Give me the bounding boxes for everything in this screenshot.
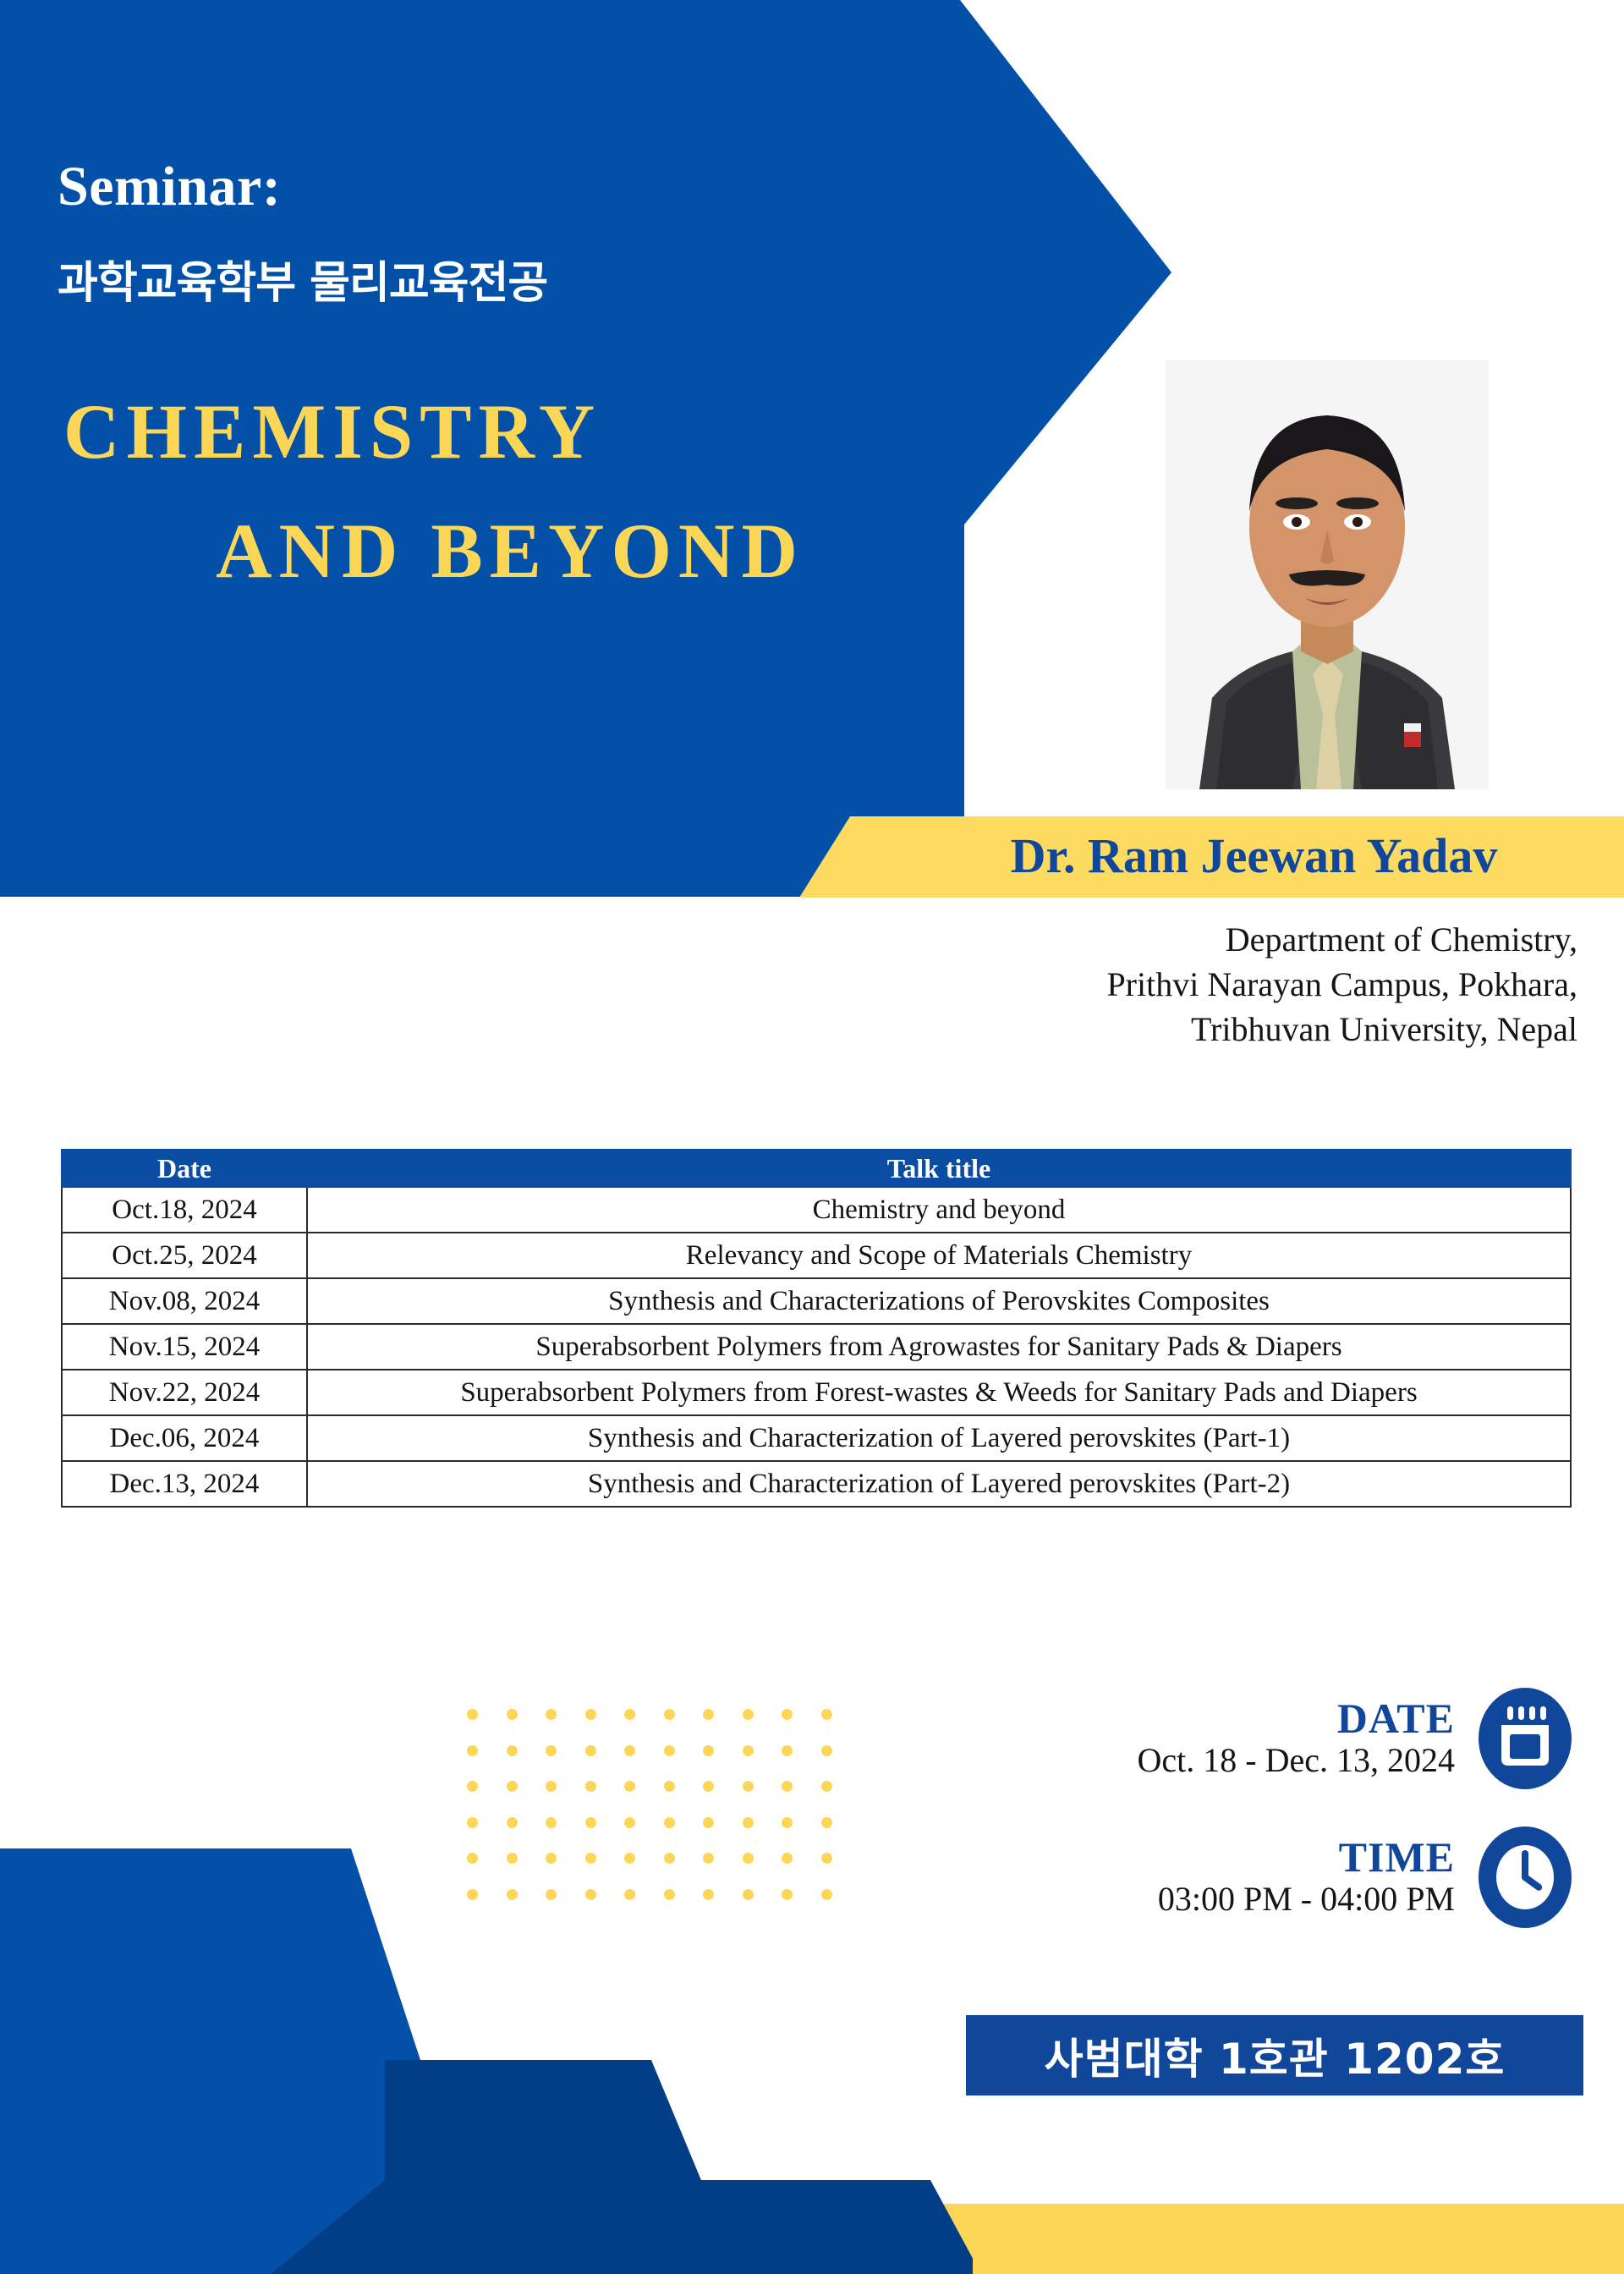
table-row: Dec.13, 2024Synthesis and Characterizati…: [62, 1461, 1571, 1507]
decorative-dot: [782, 1709, 793, 1720]
decorative-dot: [821, 1853, 832, 1864]
decorative-dot: [821, 1889, 832, 1900]
dot-row: [467, 1817, 832, 1828]
decorative-dot: [664, 1709, 675, 1720]
decorative-dot: [624, 1889, 635, 1900]
speaker-affiliation: Department of Chemistry, Prithvi Narayan…: [749, 918, 1577, 1052]
decorative-dot: [507, 1889, 518, 1900]
decorative-dot: [703, 1817, 714, 1828]
decorative-dot: [507, 1781, 518, 1792]
decorative-dot: [664, 1853, 675, 1864]
decorative-dot: [821, 1817, 832, 1828]
decorative-dot: [821, 1709, 832, 1720]
decorative-dot: [467, 1817, 478, 1828]
table-row: Nov.08, 2024Synthesis and Characterizati…: [62, 1278, 1571, 1324]
dot-grid-decoration: [467, 1709, 832, 1925]
decorative-dot: [703, 1745, 714, 1756]
schedule-table: Date Talk title Oct.18, 2024Chemistry an…: [61, 1149, 1572, 1508]
decorative-dot: [546, 1745, 557, 1756]
decorative-dot: [585, 1853, 596, 1864]
bottom-navy-shape-lower: [271, 2180, 973, 2274]
dot-row: [467, 1853, 832, 1864]
clock-icon: [1479, 1826, 1572, 1928]
decorative-dot: [507, 1817, 518, 1828]
decorative-dot: [782, 1853, 793, 1864]
dot-row: [467, 1745, 832, 1756]
decorative-dot: [664, 1745, 675, 1756]
decorative-dot: [821, 1781, 832, 1792]
decorative-dot: [585, 1889, 596, 1900]
decorative-dot: [624, 1745, 635, 1756]
decorative-dot: [546, 1709, 557, 1720]
cell-talk-title: Synthesis and Characterization of Layere…: [307, 1461, 1571, 1507]
affiliation-line-1: Department of Chemistry,: [749, 918, 1577, 963]
cell-date: Dec.06, 2024: [62, 1415, 307, 1461]
decorative-dot: [743, 1709, 754, 1720]
decorative-dot: [507, 1745, 518, 1756]
cell-date: Oct.18, 2024: [62, 1187, 307, 1233]
cell-talk-title: Synthesis and Characterization of Layere…: [307, 1415, 1571, 1461]
date-label: DATE: [1138, 1696, 1455, 1741]
date-texts: DATE Oct. 18 - Dec. 13, 2024: [1138, 1696, 1455, 1782]
dot-row: [467, 1781, 832, 1792]
cell-talk-title: Relevancy and Scope of Materials Chemist…: [307, 1233, 1571, 1278]
column-header-talk-title: Talk title: [307, 1150, 1571, 1187]
seminar-label: Seminar:: [58, 155, 281, 219]
time-row: TIME 03:00 PM - 04:00 PM: [895, 1826, 1572, 1928]
dot-row: [467, 1709, 832, 1720]
decorative-dot: [743, 1781, 754, 1792]
decorative-dot: [743, 1853, 754, 1864]
decorative-dot: [703, 1781, 714, 1792]
decorative-dot: [624, 1709, 635, 1720]
decorative-dot: [546, 1853, 557, 1864]
date-value: Oct. 18 - Dec. 13, 2024: [1138, 1740, 1455, 1781]
decorative-dot: [624, 1853, 635, 1864]
decorative-dot: [467, 1853, 478, 1864]
table-header-row: Date Talk title: [62, 1150, 1571, 1187]
poster-title-line-1: CHEMISTRY: [63, 387, 601, 476]
decorative-dot: [821, 1745, 832, 1756]
table-row: Oct.25, 2024Relevancy and Scope of Mater…: [62, 1233, 1571, 1278]
decorative-dot: [703, 1709, 714, 1720]
column-header-date: Date: [62, 1150, 307, 1187]
cell-date: Dec.13, 2024: [62, 1461, 307, 1507]
decorative-dot: [664, 1889, 675, 1900]
cell-talk-title: Chemistry and beyond: [307, 1187, 1571, 1233]
decorative-dot: [743, 1889, 754, 1900]
venue-text: 사범대학 1호관 1202호: [1045, 2025, 1506, 2086]
cell-date: Nov.22, 2024: [62, 1370, 307, 1415]
decorative-dot: [585, 1745, 596, 1756]
table-row: Nov.22, 2024Superabsorbent Polymers from…: [62, 1370, 1571, 1415]
cell-talk-title: Synthesis and Characterizations of Perov…: [307, 1278, 1571, 1324]
speaker-name: Dr. Ram Jeewan Yadav: [897, 827, 1611, 884]
decorative-dot: [664, 1781, 675, 1792]
cell-date: Nov.15, 2024: [62, 1324, 307, 1370]
affiliation-line-2: Prithvi Narayan Campus, Pokhara,: [749, 963, 1577, 1008]
cell-talk-title: Superabsorbent Polymers from Forest-wast…: [307, 1370, 1571, 1415]
date-row: DATE Oct. 18 - Dec. 13, 2024: [895, 1688, 1572, 1789]
decorative-dot: [467, 1781, 478, 1792]
dot-row: [467, 1889, 832, 1900]
calendar-icon: [1479, 1688, 1572, 1789]
decorative-dot: [546, 1781, 557, 1792]
decorative-dot: [624, 1781, 635, 1792]
decorative-dot: [507, 1709, 518, 1720]
table-row: Dec.06, 2024Synthesis and Characterizati…: [62, 1415, 1571, 1461]
venue-banner: 사범대학 1호관 1202호: [966, 2015, 1583, 2095]
time-label: TIME: [1158, 1835, 1455, 1880]
time-value: 03:00 PM - 04:00 PM: [1158, 1879, 1455, 1920]
poster-title-line-2: AND BEYOND: [216, 506, 804, 596]
table-row: Nov.15, 2024Superabsorbent Polymers from…: [62, 1324, 1571, 1370]
cell-talk-title: Superabsorbent Polymers from Agrowastes …: [307, 1324, 1571, 1370]
decorative-dot: [467, 1745, 478, 1756]
decorative-dot: [703, 1853, 714, 1864]
cell-date: Oct.25, 2024: [62, 1233, 307, 1278]
decorative-dot: [782, 1889, 793, 1900]
decorative-dot: [782, 1817, 793, 1828]
decorative-dot: [664, 1817, 675, 1828]
decorative-dot: [585, 1781, 596, 1792]
decorative-dot: [782, 1745, 793, 1756]
decorative-dot: [546, 1817, 557, 1828]
decorative-dot: [743, 1745, 754, 1756]
decorative-dot: [782, 1781, 793, 1792]
decorative-dot: [624, 1817, 635, 1828]
decorative-dot: [585, 1709, 596, 1720]
decorative-dot: [743, 1817, 754, 1828]
department-subtitle: 과학교육학부 물리교육전공: [58, 247, 547, 310]
time-texts: TIME 03:00 PM - 04:00 PM: [1158, 1835, 1455, 1920]
event-details: DATE Oct. 18 - Dec. 13, 2024 TIME 03:00 …: [895, 1688, 1572, 1928]
decorative-dot: [467, 1889, 478, 1900]
decorative-dot: [507, 1853, 518, 1864]
cell-date: Nov.08, 2024: [62, 1278, 307, 1324]
speaker-portrait: [1166, 360, 1489, 789]
decorative-dot: [467, 1709, 478, 1720]
decorative-dot: [703, 1889, 714, 1900]
decorative-dot: [585, 1817, 596, 1828]
decorative-dot: [546, 1889, 557, 1900]
table-row: Oct.18, 2024Chemistry and beyond: [62, 1187, 1571, 1233]
affiliation-line-3: Tribhuvan University, Nepal: [749, 1008, 1577, 1052]
